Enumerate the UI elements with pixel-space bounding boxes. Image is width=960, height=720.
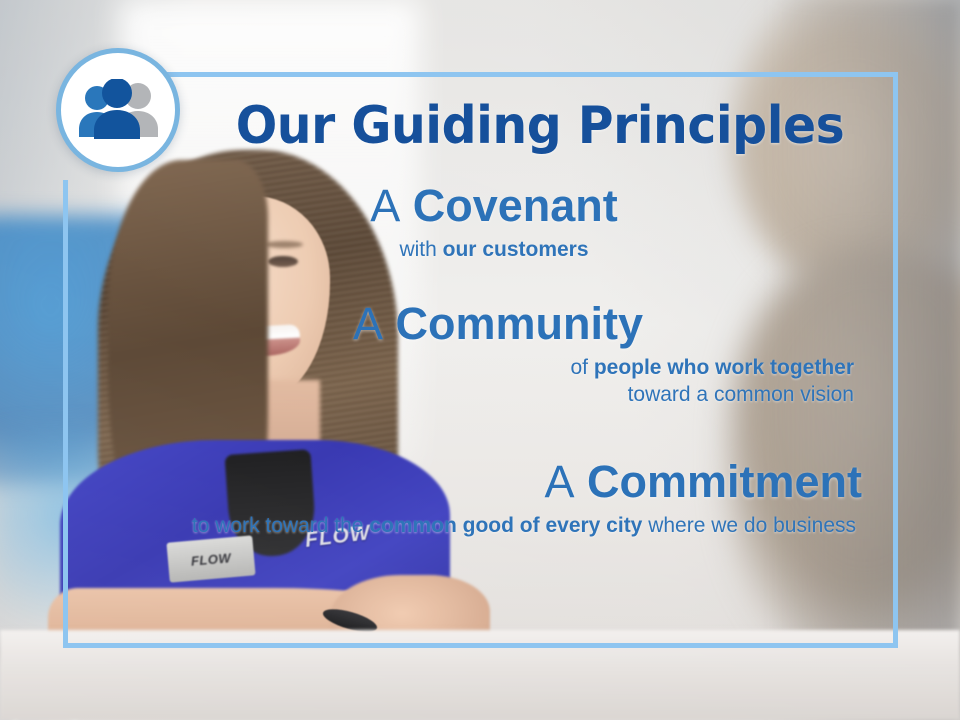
principle-commitment-keyword: Commitment	[587, 456, 862, 507]
sub-part-bold: people who work together	[594, 356, 854, 379]
text-content: Our Guiding Principles A Covenant with o…	[63, 72, 898, 648]
principle-community-subtitle: of people who work together toward a com…	[138, 354, 868, 409]
sub-part-bold: common good of every city	[369, 514, 642, 537]
principle-community: A Community of people who work together …	[138, 300, 868, 409]
principle-covenant: A Covenant with our customers	[168, 182, 868, 263]
principle-community-article: A	[353, 298, 383, 349]
sub-part: where we do business	[642, 514, 856, 537]
principle-commitment-heading: A Commitment	[108, 458, 868, 506]
principle-commitment-article: A	[544, 456, 574, 507]
page-title: Our Guiding Principles	[87, 100, 851, 152]
principle-covenant-article: A	[370, 180, 400, 231]
principle-commitment-subtitle: to work toward the common good of every …	[108, 512, 868, 540]
principle-community-heading: A Community	[138, 300, 868, 348]
principle-covenant-heading: A Covenant	[168, 182, 868, 230]
sub-part-bold: our customers	[443, 238, 589, 261]
sub-part: with	[399, 238, 442, 261]
principle-commitment: A Commitment to work toward the common g…	[108, 458, 868, 539]
principle-covenant-subtitle: with our customers	[168, 236, 868, 264]
sub-part: of	[570, 356, 593, 379]
guiding-principles-banner: FLOW FLOW Our Guiding Principle	[0, 0, 960, 720]
sub-part: to work toward the	[192, 514, 369, 537]
principle-community-keyword: Community	[396, 298, 644, 349]
sub-part: toward a common vision	[622, 383, 854, 406]
principle-covenant-keyword: Covenant	[413, 180, 618, 231]
